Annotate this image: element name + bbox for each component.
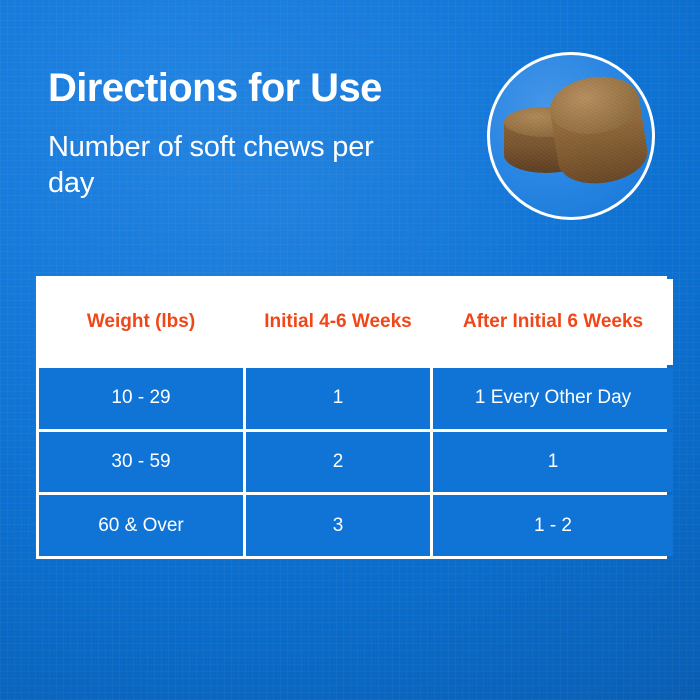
table-row: 1 Every Other Day [433,368,673,429]
dosage-table: Weight (lbs) Initial 4-6 Weeks After Ini… [36,276,667,559]
table-row: 10 - 29 [39,368,243,429]
table-row: 3 [246,495,430,556]
table-row: 30 - 59 [39,432,243,493]
page-title: Directions for Use [48,68,382,108]
table-row: 2 [246,432,430,493]
table-row: 1 [246,368,430,429]
directions-for-use-panel: Directions for Use Number of soft chews … [0,0,700,700]
chew-front-icon [542,70,655,196]
table-header-weight: Weight (lbs) [39,279,243,365]
table-header-initial: Initial 4-6 Weeks [246,279,430,365]
page-subtitle: Number of soft chews per day [48,130,408,202]
table-row: 60 & Over [39,495,243,556]
soft-chews-icon [487,52,655,220]
table-header-after-initial: After Initial 6 Weeks [433,279,673,365]
table-row: 1 - 2 [433,495,673,556]
table-row: 1 [433,432,673,493]
